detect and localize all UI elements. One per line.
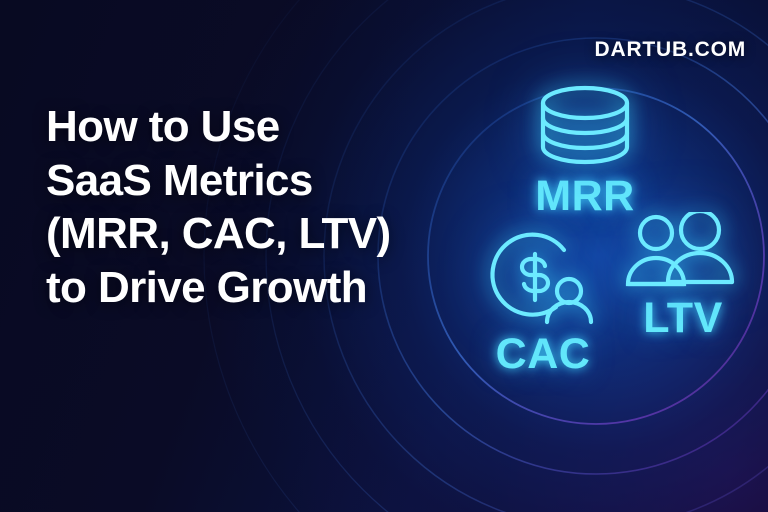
- page-title: How to Use SaaS Metrics (MRR, CAC, LTV) …: [46, 100, 446, 315]
- metric-cac-label: CAC: [468, 333, 618, 376]
- two-people-icon: [618, 212, 748, 297]
- database-cylinder-icon: [505, 84, 665, 171]
- brand-wordmark: DARTUB.COM: [595, 38, 746, 62]
- metric-ltv-label: LTV: [618, 297, 748, 340]
- dollar-circle-person-icon: [468, 228, 618, 331]
- title-line-4: to Drive Growth: [46, 261, 446, 315]
- title-line-3: (MRR, CAC, LTV): [46, 207, 446, 261]
- title-line-2: SaaS Metrics: [46, 154, 446, 208]
- metric-ltv: LTV: [618, 212, 748, 340]
- title-line-1: How to Use: [46, 100, 446, 154]
- metric-cac: CAC: [468, 228, 618, 376]
- metric-mrr: MRR: [505, 84, 665, 218]
- banner-graphic: DARTUB.COM How to Use SaaS Metrics (MRR,…: [0, 0, 768, 512]
